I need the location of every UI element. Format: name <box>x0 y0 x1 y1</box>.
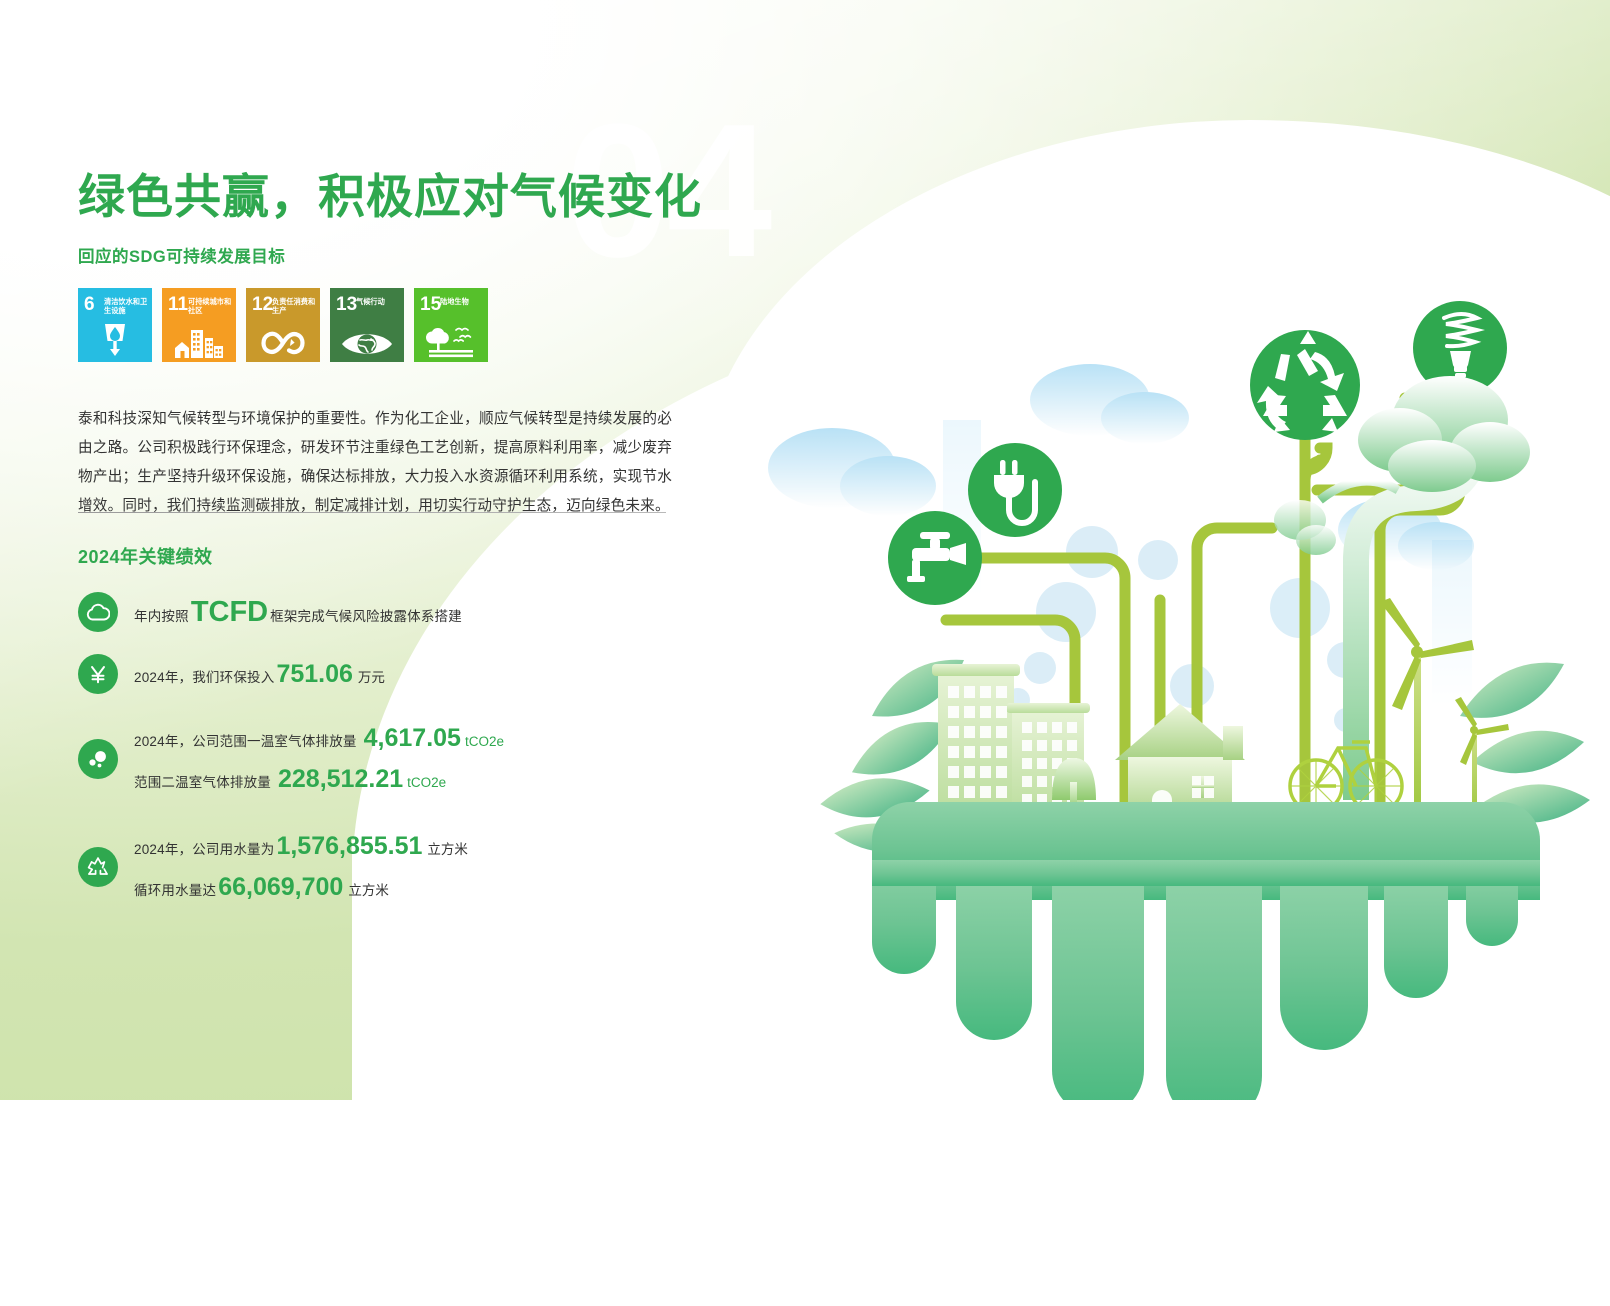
drip-platform <box>848 802 1610 1100</box>
sdg-goal-12[interactable]: 12 负责任消费和生产 <box>246 288 320 362</box>
kpi-prefix: 年内按照 <box>134 605 189 625</box>
sdg-goal-13[interactable]: 13 气候行动 <box>330 288 404 362</box>
sdg-goal-label: 陆地生物 <box>440 297 486 306</box>
node-faucet <box>888 511 982 605</box>
kpi-line: 年内按照 TCFD 框架完成气候风险披露体系搭建 <box>134 596 462 629</box>
kpi-item-ghg: 2024年，公司范围一温室气体排放量 4,617.05 tCO2e 范围二温室气… <box>78 718 678 800</box>
leaf-cluster-right <box>1460 663 1590 823</box>
sdg-goal-11[interactable]: 11 可持续城市和社区 <box>162 288 236 362</box>
sdg-goal-number: 13 <box>336 295 357 314</box>
sdg-section-heading: 回应的SDG可持续发展目标 <box>78 243 285 267</box>
tree-birds-icon <box>414 324 488 358</box>
kpi-item-investment: 2024年，我们环保投入 751.06 万元 <box>78 654 678 694</box>
page-title: 绿色共赢，积极应对气候变化 <box>78 171 702 224</box>
sdg-goal-label: 可持续城市和社区 <box>188 297 234 315</box>
kpi-prefix: 2024年，公司范围一温室气体排放量 <box>134 730 357 750</box>
sdg-goal-number: 6 <box>84 295 95 314</box>
kpi-value: 4,617.05 <box>357 724 463 753</box>
sdg-goal-label: 气候行动 <box>356 297 402 306</box>
yuan-icon <box>78 654 118 694</box>
recycle-icon <box>78 847 118 887</box>
kpi-line: 范围二温室气体排放量 228,512.21 tCO2e <box>134 765 504 794</box>
kpi-suffix: 框架完成气候风险披露体系搭建 <box>270 605 462 625</box>
sdg-goal-number: 12 <box>252 295 273 314</box>
eco-illustration <box>760 0 1610 1100</box>
bubbles-icon <box>78 739 118 779</box>
kpi-line: 循环用水量达 66,069,700 立方米 <box>134 873 468 902</box>
kpi-text-block: 2024年，公司范围一温室气体排放量 4,617.05 tCO2e 范围二温室气… <box>134 718 504 800</box>
kpi-line: 2024年，我们环保投入 751.06 万元 <box>134 660 385 689</box>
content-column: 04 绿色共赢，积极应对气候变化 回应的SDG可持续发展目标 6 清洁饮水和卫生… <box>0 0 720 1100</box>
intro-paragraph: 泰和科技深知气候转型与环境保护的重要性。作为化工企业，顺应气候转型是持续发展的必… <box>78 405 672 522</box>
kpi-prefix: 2024年，公司用水量为 <box>134 838 274 858</box>
kpi-list: 年内按照 TCFD 框架完成气候风险披露体系搭建 2024年，我们环保投入 75… <box>78 592 678 926</box>
node-plug <box>968 443 1062 537</box>
kpi-item-tcfd: 年内按照 TCFD 框架完成气候风险披露体系搭建 <box>78 592 678 632</box>
kpi-unit: tCO2e <box>405 775 446 790</box>
kpi-prefix: 循环用水量达 <box>134 879 216 899</box>
kpi-prefix: 2024年，我们环保投入 <box>134 666 274 686</box>
kpi-unit: 立方米 <box>424 838 468 858</box>
city-buildings-icon <box>162 324 236 358</box>
cloud-icon <box>78 592 118 632</box>
sdg-goal-label: 清洁饮水和卫生设施 <box>104 297 150 315</box>
kpi-unit: 万元 <box>355 666 385 686</box>
kpi-unit: tCO2e <box>463 734 504 749</box>
kpi-text-block: 2024年，公司用水量为 1,576,855.51 立方米 循环用水量达 66,… <box>134 826 468 908</box>
sdg-goal-15[interactable]: 15 陆地生物 <box>414 288 488 362</box>
sdg-goal-list: 6 清洁饮水和卫生设施 11 可持续城市和社区 <box>78 288 488 362</box>
kpi-section-heading: 2024年关键绩效 <box>78 543 213 569</box>
sdg-goal-6[interactable]: 6 清洁饮水和卫生设施 <box>78 288 152 362</box>
node-recycle <box>1250 330 1360 440</box>
kpi-text-block: 2024年，我们环保投入 751.06 万元 <box>134 657 385 692</box>
water-glass-icon <box>78 320 152 358</box>
sdg-goal-number: 15 <box>420 295 441 314</box>
kpi-text-block: 年内按照 TCFD 框架完成气候风险披露体系搭建 <box>134 593 462 632</box>
kpi-prefix: 范围二温室气体排放量 <box>134 771 271 791</box>
kpi-value: 1,576,855.51 <box>274 832 424 861</box>
sdg-goal-label: 负责任消费和生产 <box>272 297 318 315</box>
infinity-icon <box>246 328 320 358</box>
kpi-unit: 立方米 <box>345 879 389 899</box>
kpi-value: 751.06 <box>274 660 354 689</box>
eye-earth-icon <box>330 330 404 358</box>
kpi-line: 2024年，公司用水量为 1,576,855.51 立方米 <box>134 832 468 861</box>
sdg-goal-number: 11 <box>168 295 188 314</box>
kpi-line: 2024年，公司范围一温室气体排放量 4,617.05 tCO2e <box>134 724 504 753</box>
kpi-value: TCFD <box>189 596 270 629</box>
eco-illustration-svg <box>760 0 1610 1100</box>
section-divider <box>78 512 666 513</box>
kpi-value: 66,069,700 <box>216 873 345 902</box>
kpi-item-water: 2024年，公司用水量为 1,576,855.51 立方米 循环用水量达 66,… <box>78 826 678 908</box>
kpi-value: 228,512.21 <box>271 765 405 794</box>
